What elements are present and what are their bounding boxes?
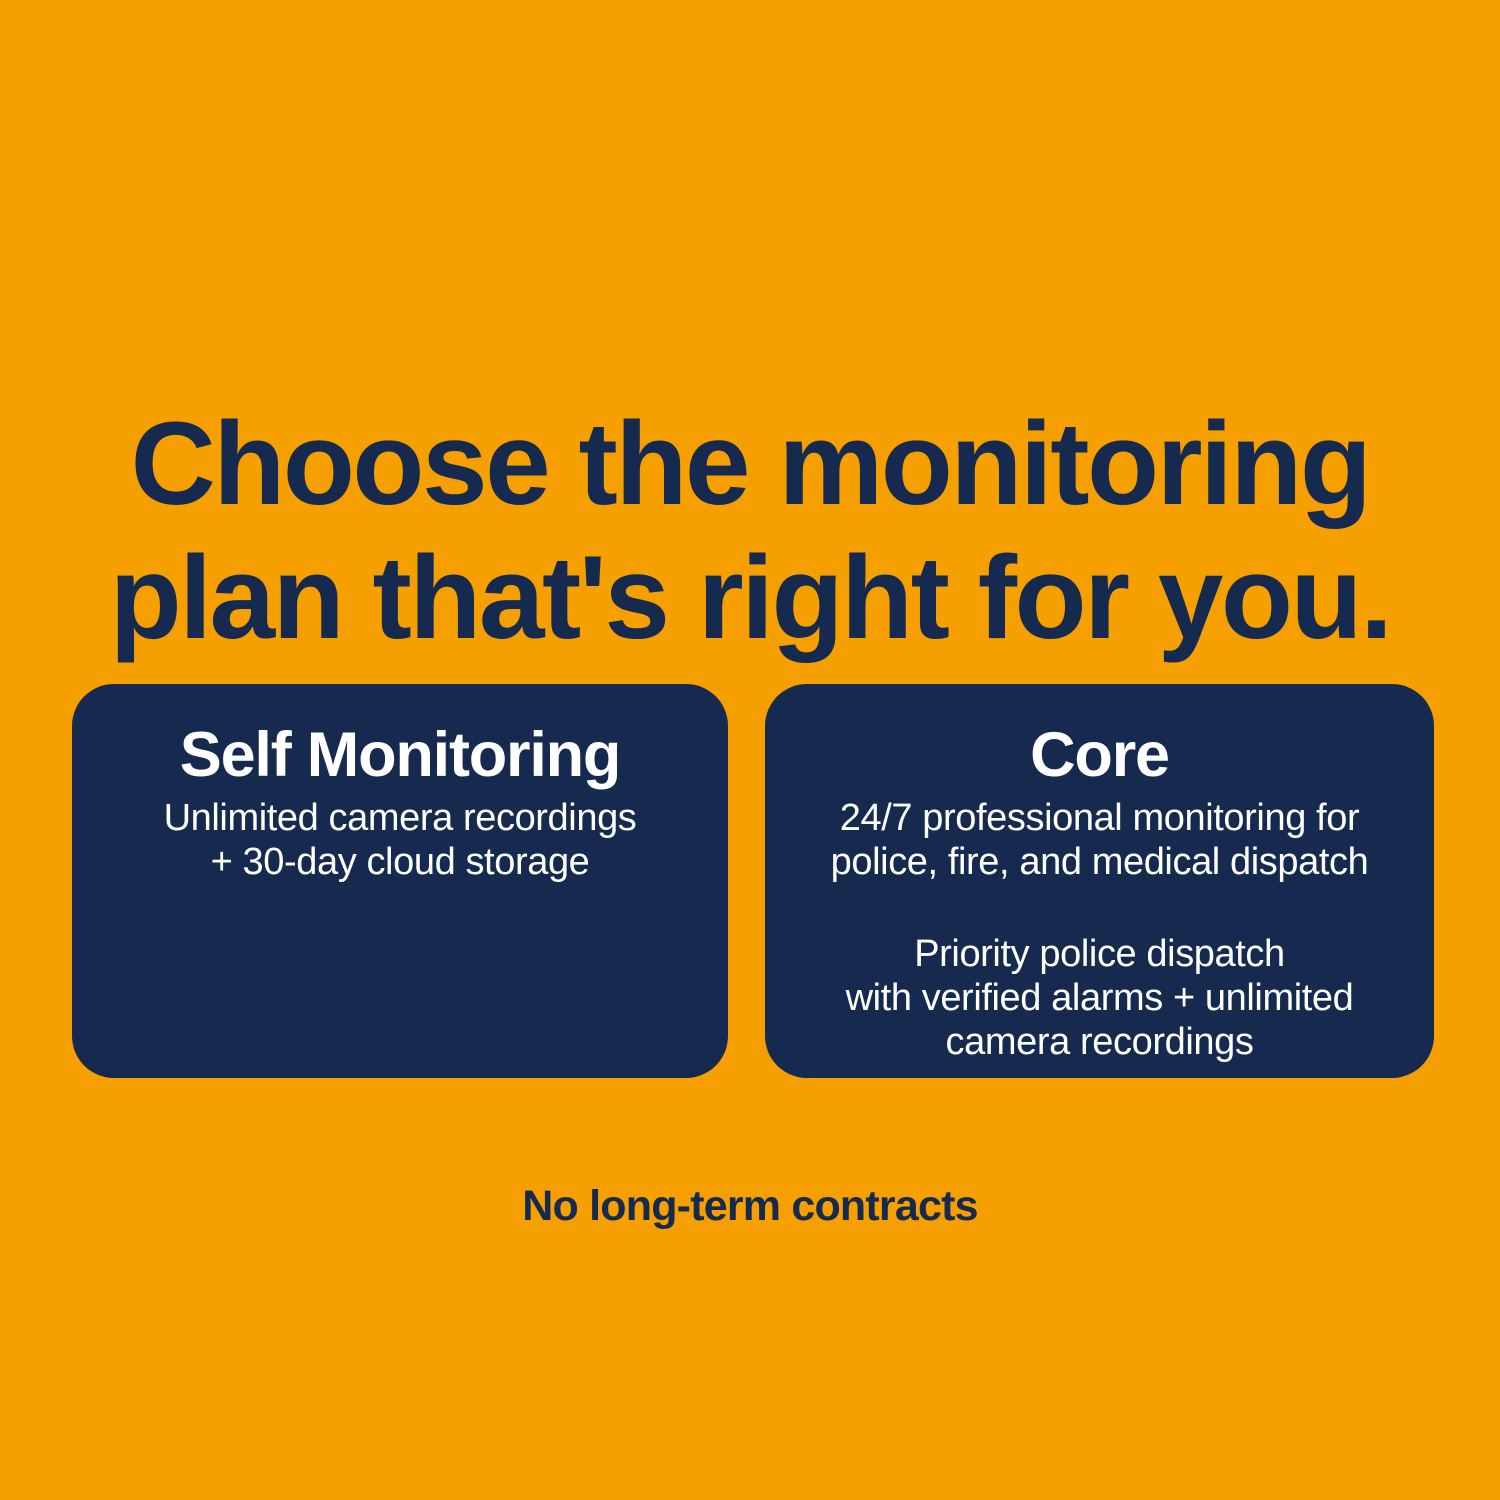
plan-card-self-monitoring[interactable]: Self Monitoring Unlimited camera recordi…	[72, 684, 728, 1078]
plan-card-core[interactable]: Core 24/7 professional monitoring for po…	[765, 684, 1434, 1078]
plan-feature-self-monitoring-0: Unlimited camera recordings + 30-day clo…	[164, 796, 637, 884]
plan-feature-core-0: 24/7 professional monitoring for police,…	[831, 796, 1369, 884]
plan-comparison-poster: Choose the monitoring plan that's right …	[0, 0, 1500, 1500]
page-title: Choose the monitoring plan that's right …	[0, 397, 1500, 665]
page-title-line-1: Choose the monitoring	[60, 397, 1440, 531]
plan-feature-core-1: Priority police dispatch with verified a…	[846, 932, 1354, 1064]
plan-feature-line: Unlimited camera recordings	[164, 796, 637, 840]
plan-feature-line: + 30-day cloud storage	[164, 840, 637, 884]
plan-title-self-monitoring: Self Monitoring	[180, 720, 620, 790]
plan-feature-line: camera recordings	[846, 1020, 1354, 1064]
plan-feature-line: 24/7 professional monitoring for	[831, 796, 1369, 840]
contract-footnote: No long-term contracts	[0, 1180, 1500, 1232]
plan-cards-row: Self Monitoring Unlimited camera recordi…	[72, 684, 1434, 1078]
plan-feature-line: with verified alarms + unlimited	[846, 976, 1354, 1020]
plan-title-core: Core	[1030, 720, 1169, 790]
plan-feature-line: Priority police dispatch	[846, 932, 1354, 976]
plan-feature-line: police, fire, and medical dispatch	[831, 840, 1369, 884]
page-title-line-2: plan that's right for you.	[60, 531, 1440, 665]
